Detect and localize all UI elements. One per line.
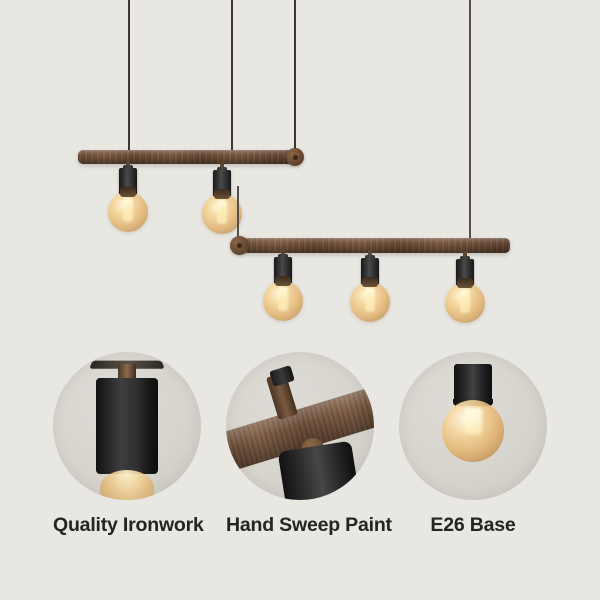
product-image-stage: Quality Ironwork Hand Sweep Paint E26 Ba… [0,0,600,600]
feature-image-ironwork [53,352,201,500]
feature-hand-sweep-paint: Hand Sweep Paint [226,352,374,537]
feature-callouts: Quality Ironwork Hand Sweep Paint E26 Ba… [0,352,600,552]
iron-socket-body-shape [96,378,158,474]
feature-caption: Quality Ironwork [53,514,201,537]
suspension-cord [128,0,130,150]
knob-pin [293,155,298,160]
edison-bulb [263,281,303,321]
edison-bulb [350,282,390,322]
suspension-cord [469,0,471,240]
edison-bulb [202,194,242,234]
feature-caption: E26 Base [399,514,547,537]
wood-beam-upper [78,150,293,164]
branch-tip-shape [269,365,295,387]
bulb-glow-shape [100,470,154,500]
suspension-cord [231,0,233,152]
e26-socket-shape [454,364,492,402]
beam-end-knob [230,236,249,255]
feature-image-paint [226,352,374,500]
feature-caption: Hand Sweep Paint [226,514,374,537]
edison-bulb [445,283,485,323]
suspension-cord [237,186,239,242]
feature-quality-ironwork: Quality Ironwork [53,352,201,537]
suspension-cord [294,0,296,152]
edison-bulb [108,192,148,232]
beam-end-knob [286,148,304,166]
iron-socket-shape [278,441,361,500]
feature-image-e26 [399,352,547,500]
filament-shape [464,408,482,434]
knob-pin [237,243,242,248]
feature-e26-base: E26 Base [399,352,547,537]
